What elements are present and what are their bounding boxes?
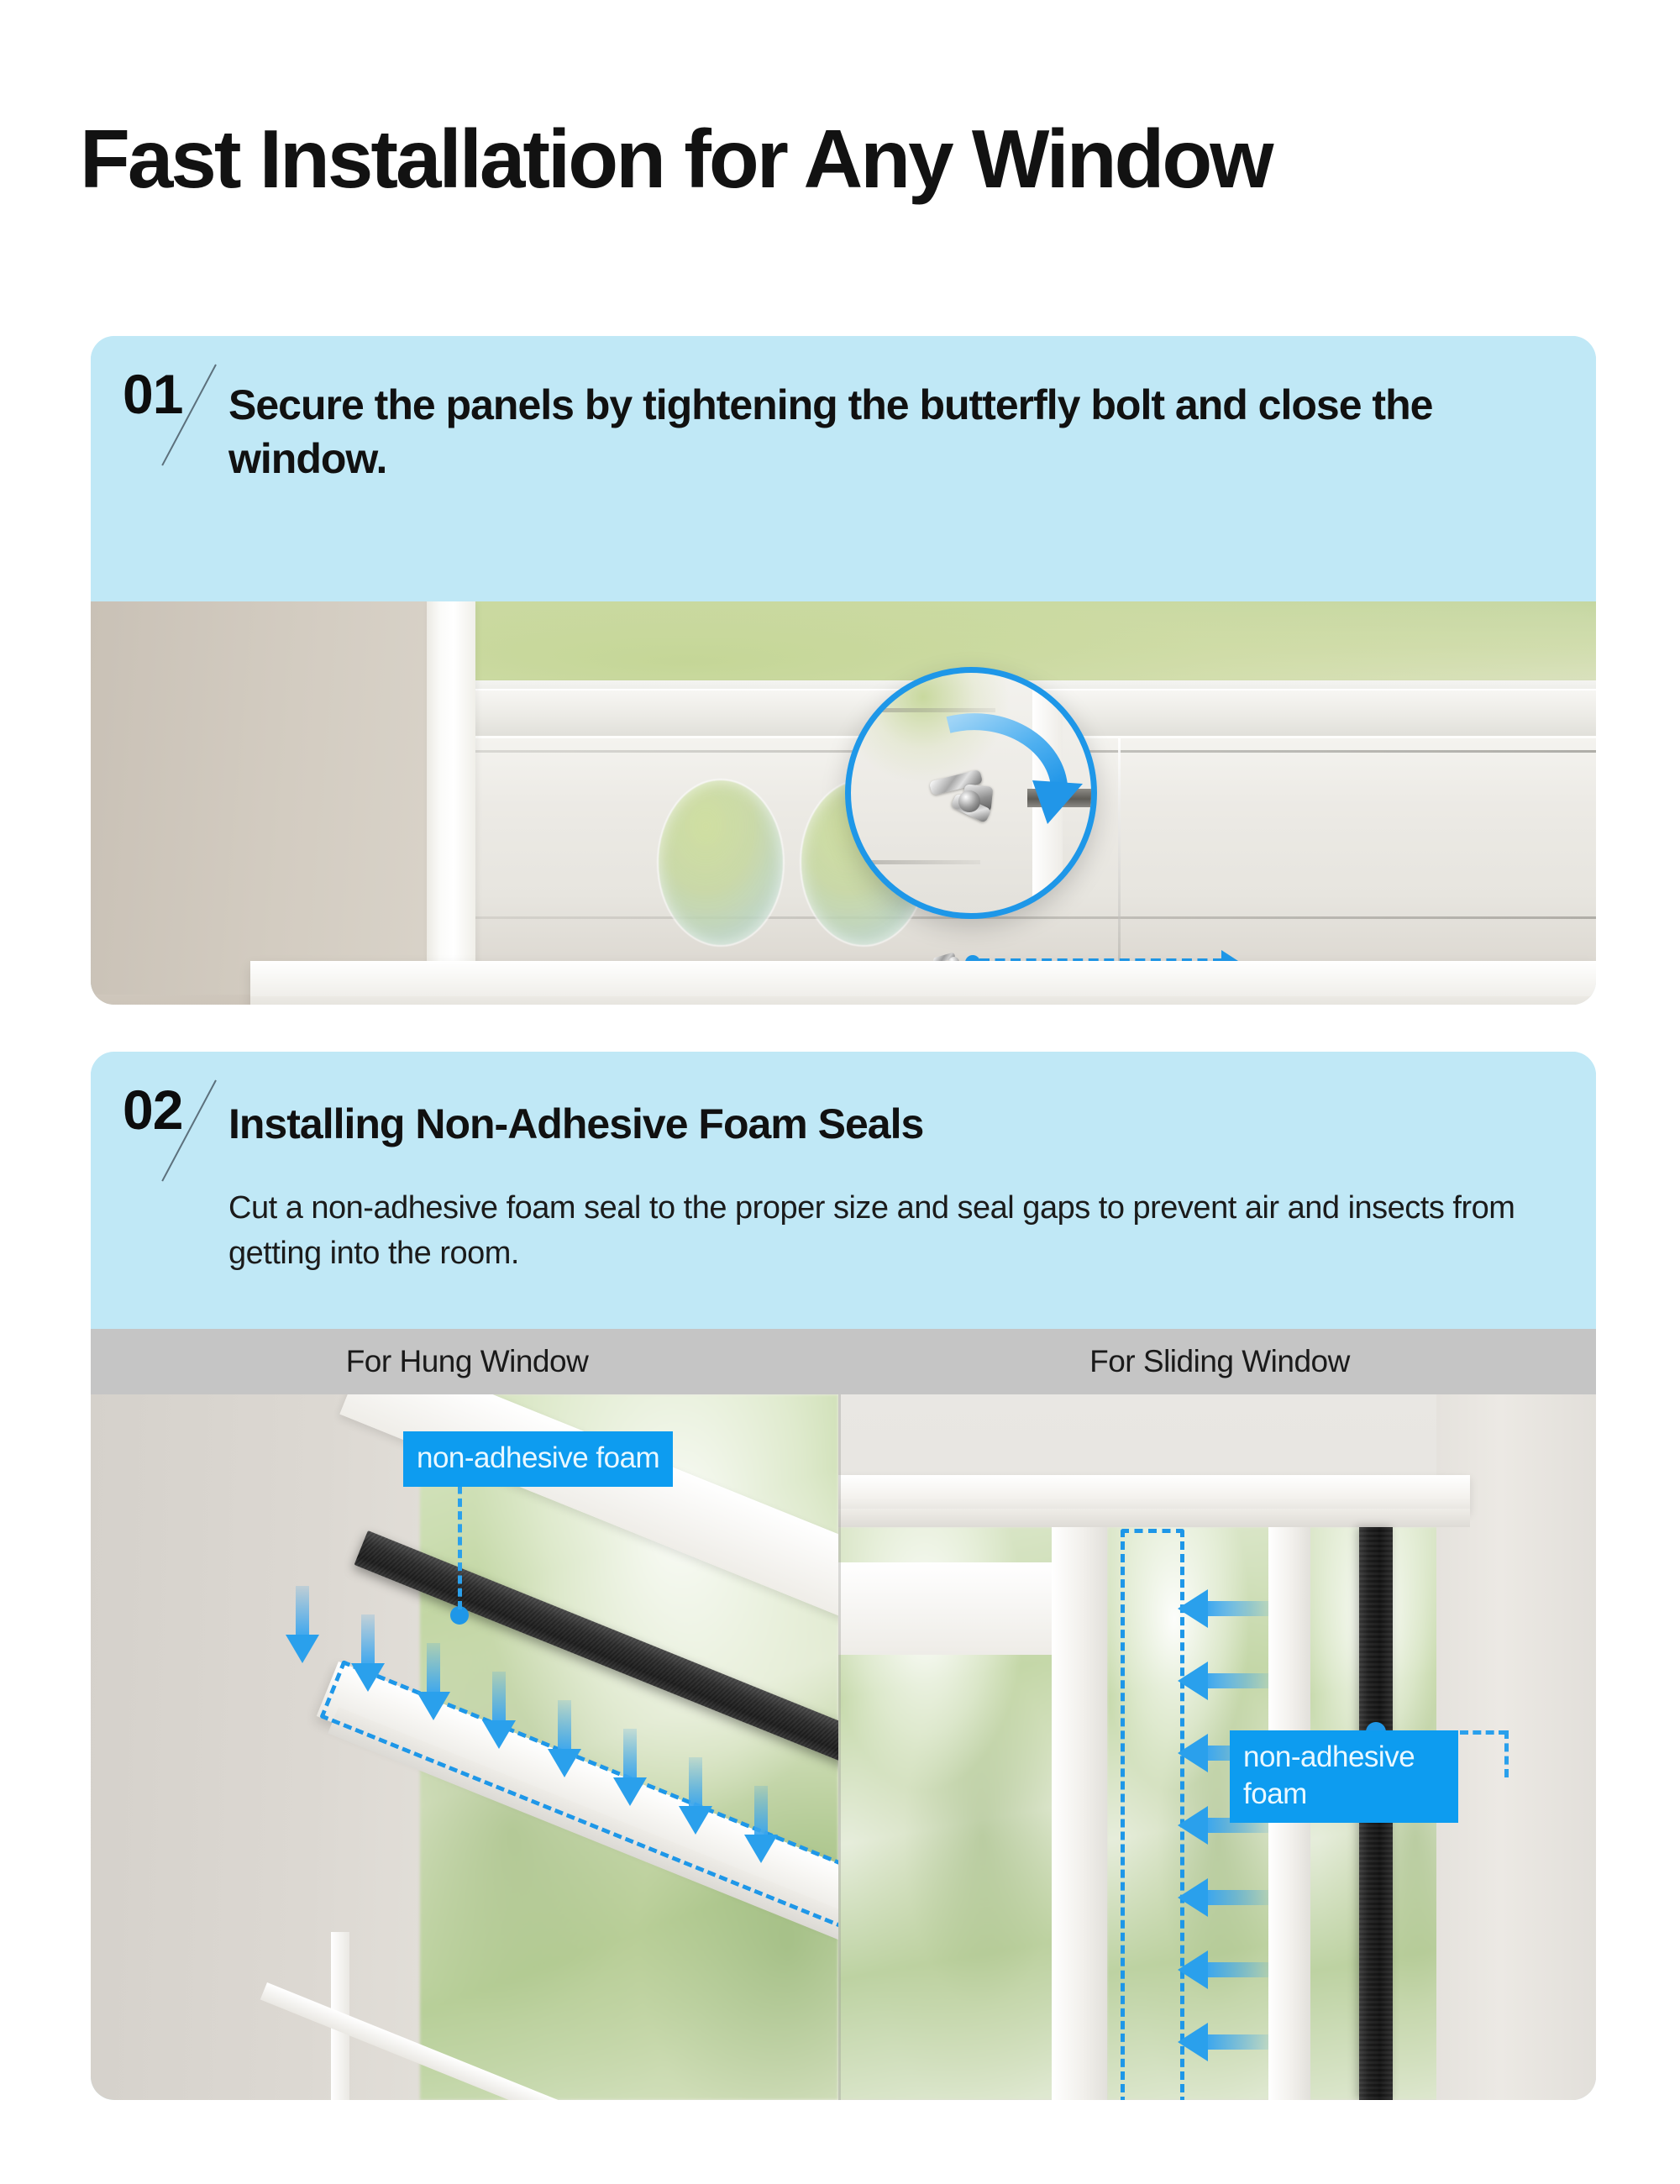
dashed-channel-icon: [1121, 1529, 1184, 2100]
hung-window-scene: non-adhesive foam: [91, 1394, 838, 2100]
window-jamb: [427, 601, 475, 1005]
step-01-photo: [91, 601, 1596, 1005]
step-card-02: 02 Installing Non-Adhesive Foam Seals Cu…: [91, 1052, 1596, 2100]
step-01-text-block: Secure the panels by tightening the butt…: [228, 336, 1562, 486]
window-sill-front-edge: [250, 996, 1596, 1005]
step-02-title: Installing Non-Adhesive Foam Seals: [228, 1052, 1562, 1149]
down-arrow-icon: [351, 1614, 385, 1695]
column-label-sliding-window: For Sliding Window: [843, 1329, 1596, 1394]
left-arrow-icon: [1178, 1662, 1268, 1700]
panel-divider: [1118, 738, 1121, 963]
down-arrow-icon: [548, 1700, 581, 1781]
down-arrow-icon: [482, 1672, 516, 1752]
rotation-arrow-icon: [942, 713, 1084, 839]
down-arrow-icon: [679, 1757, 712, 1838]
down-arrow-icon: [417, 1643, 450, 1724]
callout-leader-vertical: [1504, 1730, 1509, 1777]
sliding-window-scene: non-adhesive foam: [838, 1394, 1596, 2100]
down-arrow-icon: [613, 1729, 647, 1809]
step-02-description: Cut a non-adhesive foam seal to the prop…: [228, 1149, 1547, 1277]
page-title: Fast Installation for Any Window: [80, 118, 1272, 200]
sliding-window-head-jamb-shadow: [838, 1509, 1470, 1527]
interior-wall-left-shade: [91, 601, 444, 1005]
step-01-header: 01 Secure the panels by tightening the b…: [91, 336, 1596, 601]
panel-seam-bottom: [475, 916, 1596, 919]
column-label-bar: For Hung Window For Sliding Window: [91, 1329, 1596, 1394]
callout-non-adhesive-foam-sliding: non-adhesive foam: [1230, 1730, 1458, 1823]
step-card-01: 01 Secure the panels by tightening the b…: [91, 336, 1596, 1005]
left-arrow-icon: [1178, 2023, 1268, 2061]
left-arrow-icon: [1178, 1950, 1268, 1989]
sliding-window-head-jamb: [838, 1475, 1470, 1512]
callout-non-adhesive-foam-hung: non-adhesive foam: [403, 1431, 673, 1487]
photo-seam-divider: [838, 1394, 841, 2100]
sliding-window-stile-1: [1052, 1520, 1107, 2100]
column-label-hung-window: For Hung Window: [91, 1329, 843, 1394]
left-arrow-icon: [1178, 1878, 1268, 1917]
down-arrow-icon: [286, 1586, 319, 1667]
step-02-photo: non-adhesive foam: [91, 1394, 1596, 2100]
step-02-header: 02 Installing Non-Adhesive Foam Seals Cu…: [91, 1052, 1596, 1329]
down-arrow-icon: [744, 1786, 778, 1866]
panel-vent-oval-left: [659, 780, 783, 945]
sliding-window-inner-frame: [838, 1562, 1052, 1655]
step-01-number: 01: [123, 366, 182, 422]
magnifier-circle-icon: [845, 667, 1097, 919]
step-02-number: 02: [123, 1082, 182, 1137]
step-01-instruction: Secure the panels by tightening the butt…: [228, 336, 1562, 486]
left-arrow-icon: [1178, 1589, 1268, 1628]
step-02-text-block: Installing Non-Adhesive Foam Seals Cut a…: [228, 1052, 1562, 1277]
